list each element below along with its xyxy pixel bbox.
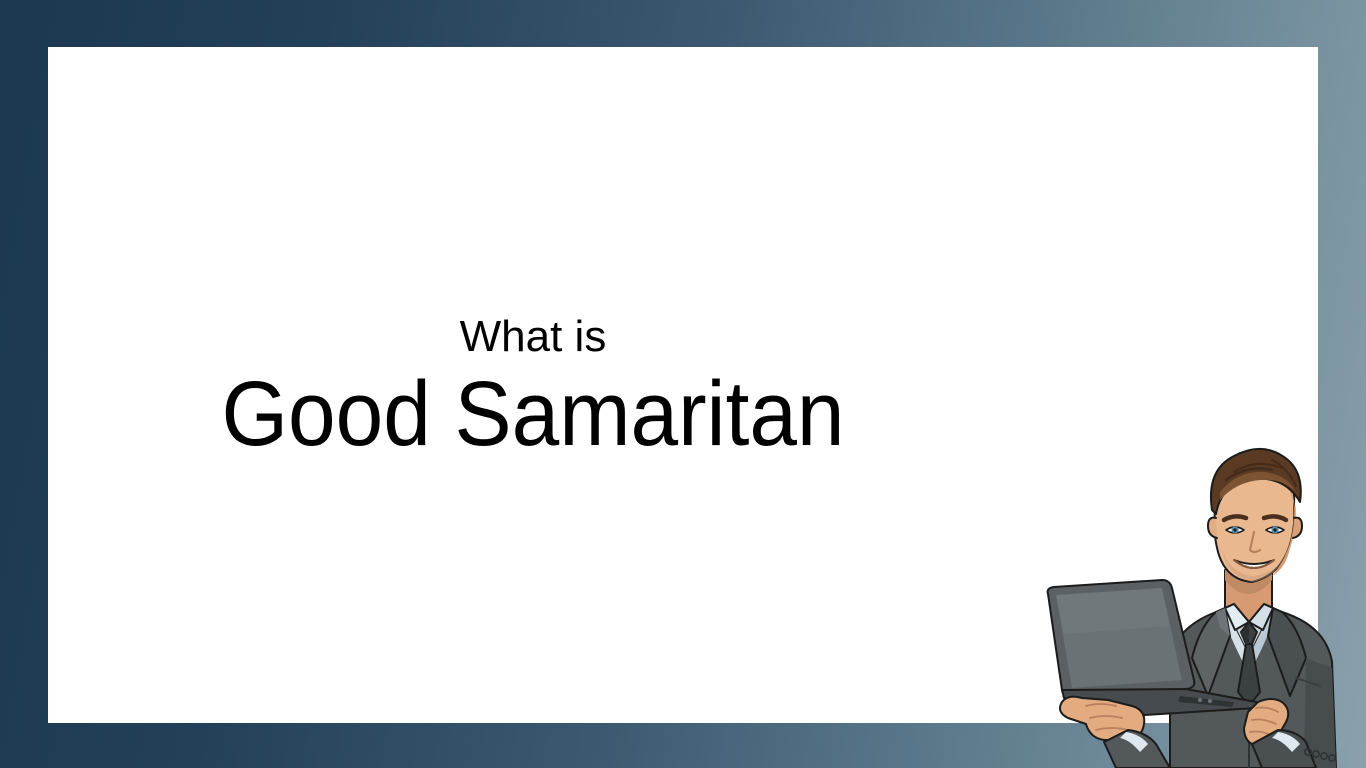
presenter-svg [1020,430,1366,768]
title-eyebrow: What is [48,312,1018,362]
slide-canvas: What is Good Samaritan [0,0,1366,768]
businessman-with-laptop-illustration [1020,430,1366,768]
page-title: Good Samaritan [82,362,984,466]
